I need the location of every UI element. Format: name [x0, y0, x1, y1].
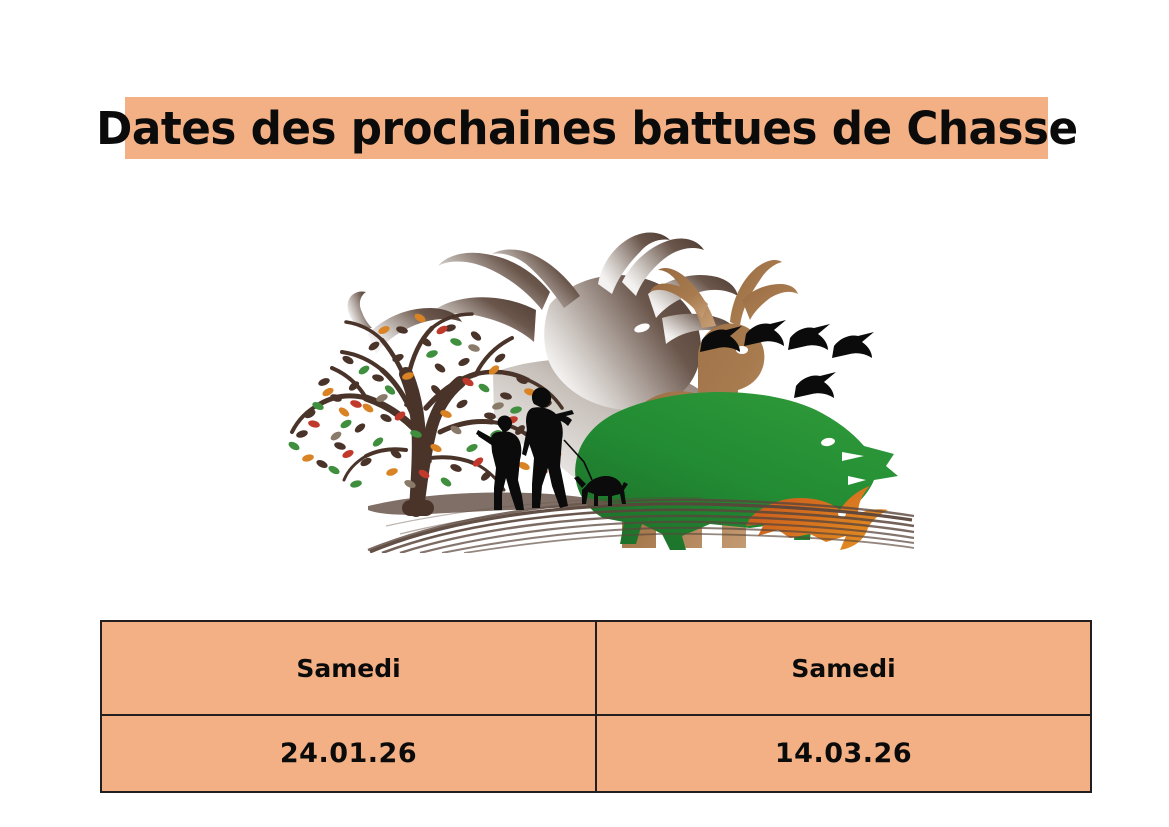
page-title: Dates des prochaines battues de Chasse	[96, 106, 1077, 151]
hunting-scene-illustration	[250, 218, 915, 553]
poster-page: Dates des prochaines battues de Chasse	[0, 0, 1169, 827]
date-cell-1: 24.01.26	[101, 715, 596, 792]
battue-dates-table: Samedi Samedi 24.01.26 14.03.26	[100, 620, 1092, 793]
title-banner: Dates des prochaines battues de Chasse	[125, 97, 1048, 159]
day-cell-1: Samedi	[101, 621, 596, 715]
date-cell-2: 14.03.26	[596, 715, 1091, 792]
table-row-date: 24.01.26 14.03.26	[101, 715, 1091, 792]
day-cell-2: Samedi	[596, 621, 1091, 715]
table-row-day: Samedi Samedi	[101, 621, 1091, 715]
